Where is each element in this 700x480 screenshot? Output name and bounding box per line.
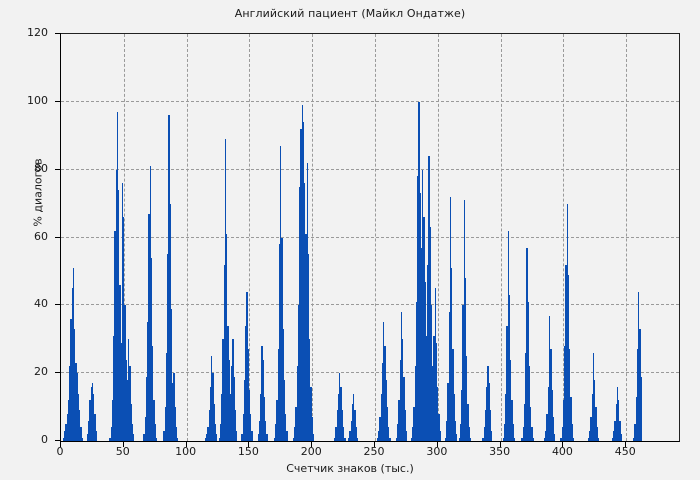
bar <box>82 438 83 441</box>
y-axis-tick-label: 0 <box>4 434 48 445</box>
y-axis-tick-label: 20 <box>4 366 48 377</box>
bar <box>266 434 267 441</box>
bar <box>216 434 217 441</box>
bar <box>456 434 457 441</box>
bar <box>533 438 534 441</box>
y-axis-label: % диалогов <box>32 133 45 253</box>
bar <box>406 431 407 441</box>
y-axis-tick-mark <box>55 169 61 170</box>
y-axis-tick-mark <box>55 304 61 305</box>
bar <box>286 431 287 441</box>
x-axis-tick-label: 300 <box>415 446 459 457</box>
bar <box>133 434 134 441</box>
y-axis-tick-label: 100 <box>4 95 48 106</box>
bar <box>514 438 515 441</box>
bar <box>344 438 345 441</box>
x-axis-tick-label: 350 <box>478 446 522 457</box>
bar <box>554 434 555 441</box>
bar <box>251 431 252 441</box>
x-axis-tick-label: 200 <box>289 446 333 457</box>
bar <box>177 438 178 441</box>
x-axis-tick-label: 250 <box>352 446 396 457</box>
y-axis-tick-label: 120 <box>4 27 48 38</box>
chart-title: Английский пациент (Майкл Ондатже) <box>0 7 700 20</box>
bar <box>573 438 574 441</box>
bar <box>440 431 441 441</box>
x-axis-tick-label: 0 <box>38 446 82 457</box>
x-axis-tick-label: 400 <box>540 446 584 457</box>
x-axis-tick-label: 150 <box>226 446 270 457</box>
y-axis-tick-label: 40 <box>4 298 48 309</box>
plot-area <box>60 33 680 442</box>
bar <box>357 438 358 441</box>
bar <box>236 431 237 441</box>
chart-root: Английский пациент (Майкл Ондатже) Испол… <box>0 0 700 480</box>
bar <box>389 438 390 441</box>
bar <box>470 438 471 441</box>
bar-series <box>61 34 679 441</box>
bar <box>96 431 97 441</box>
y-axis-tick-mark <box>55 101 61 102</box>
x-axis-tick-label: 100 <box>164 446 208 457</box>
x-axis-label: Счетчик знаков (тыс.) <box>0 462 700 475</box>
bar <box>156 438 157 441</box>
bar <box>313 434 314 441</box>
y-axis-tick-mark <box>55 33 61 34</box>
x-axis-tick-label: 450 <box>603 446 647 457</box>
bar <box>598 438 599 441</box>
bar <box>491 431 492 441</box>
y-axis-tick-mark <box>55 237 61 238</box>
y-axis-tick-mark <box>55 372 61 373</box>
x-axis-tick-label: 50 <box>101 446 145 457</box>
bar <box>641 377 642 441</box>
bar <box>621 434 622 441</box>
